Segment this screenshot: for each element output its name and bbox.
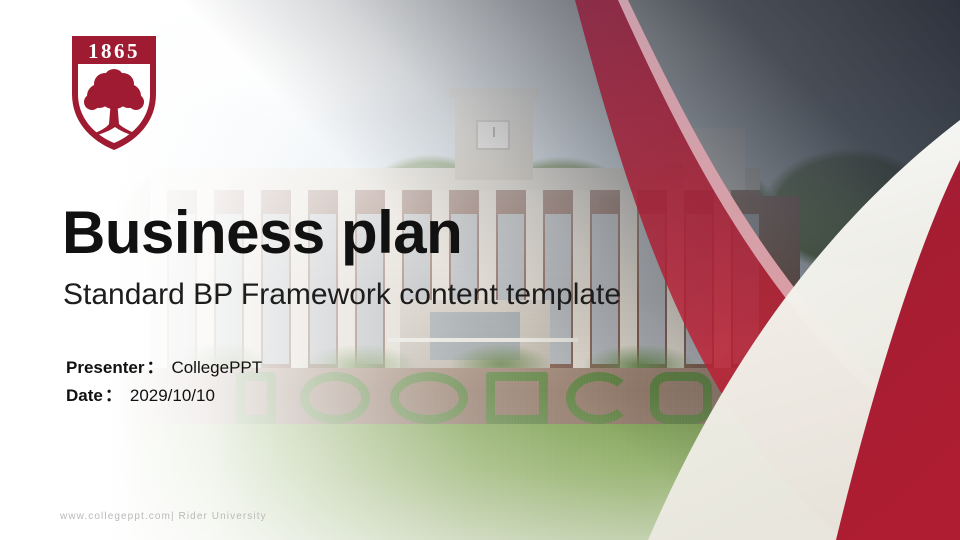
slide-meta-block: Presenter：CollegePPT Date：2029/10/10 — [66, 354, 262, 410]
university-logo: 1865 — [68, 32, 160, 152]
logo-year-text: 1865 — [88, 39, 140, 63]
presenter-separator: ： — [144, 358, 165, 377]
date-separator: ： — [103, 386, 124, 405]
footer-credit: www.collegeppt.com| Rider University — [60, 511, 267, 522]
date-label: Date — [66, 386, 103, 405]
presenter-row: Presenter：CollegePPT — [66, 354, 262, 382]
presenter-value: CollegePPT — [165, 358, 262, 377]
slide-title: Business plan — [62, 201, 462, 264]
slide-subtitle: Standard BP Framework content template — [63, 278, 621, 311]
date-value: 2029/10/10 — [124, 386, 215, 405]
presenter-label: Presenter — [66, 358, 144, 377]
presentation-slide: 1865 Business plan Standard BP Frame — [0, 0, 960, 540]
date-row: Date：2029/10/10 — [66, 382, 262, 410]
